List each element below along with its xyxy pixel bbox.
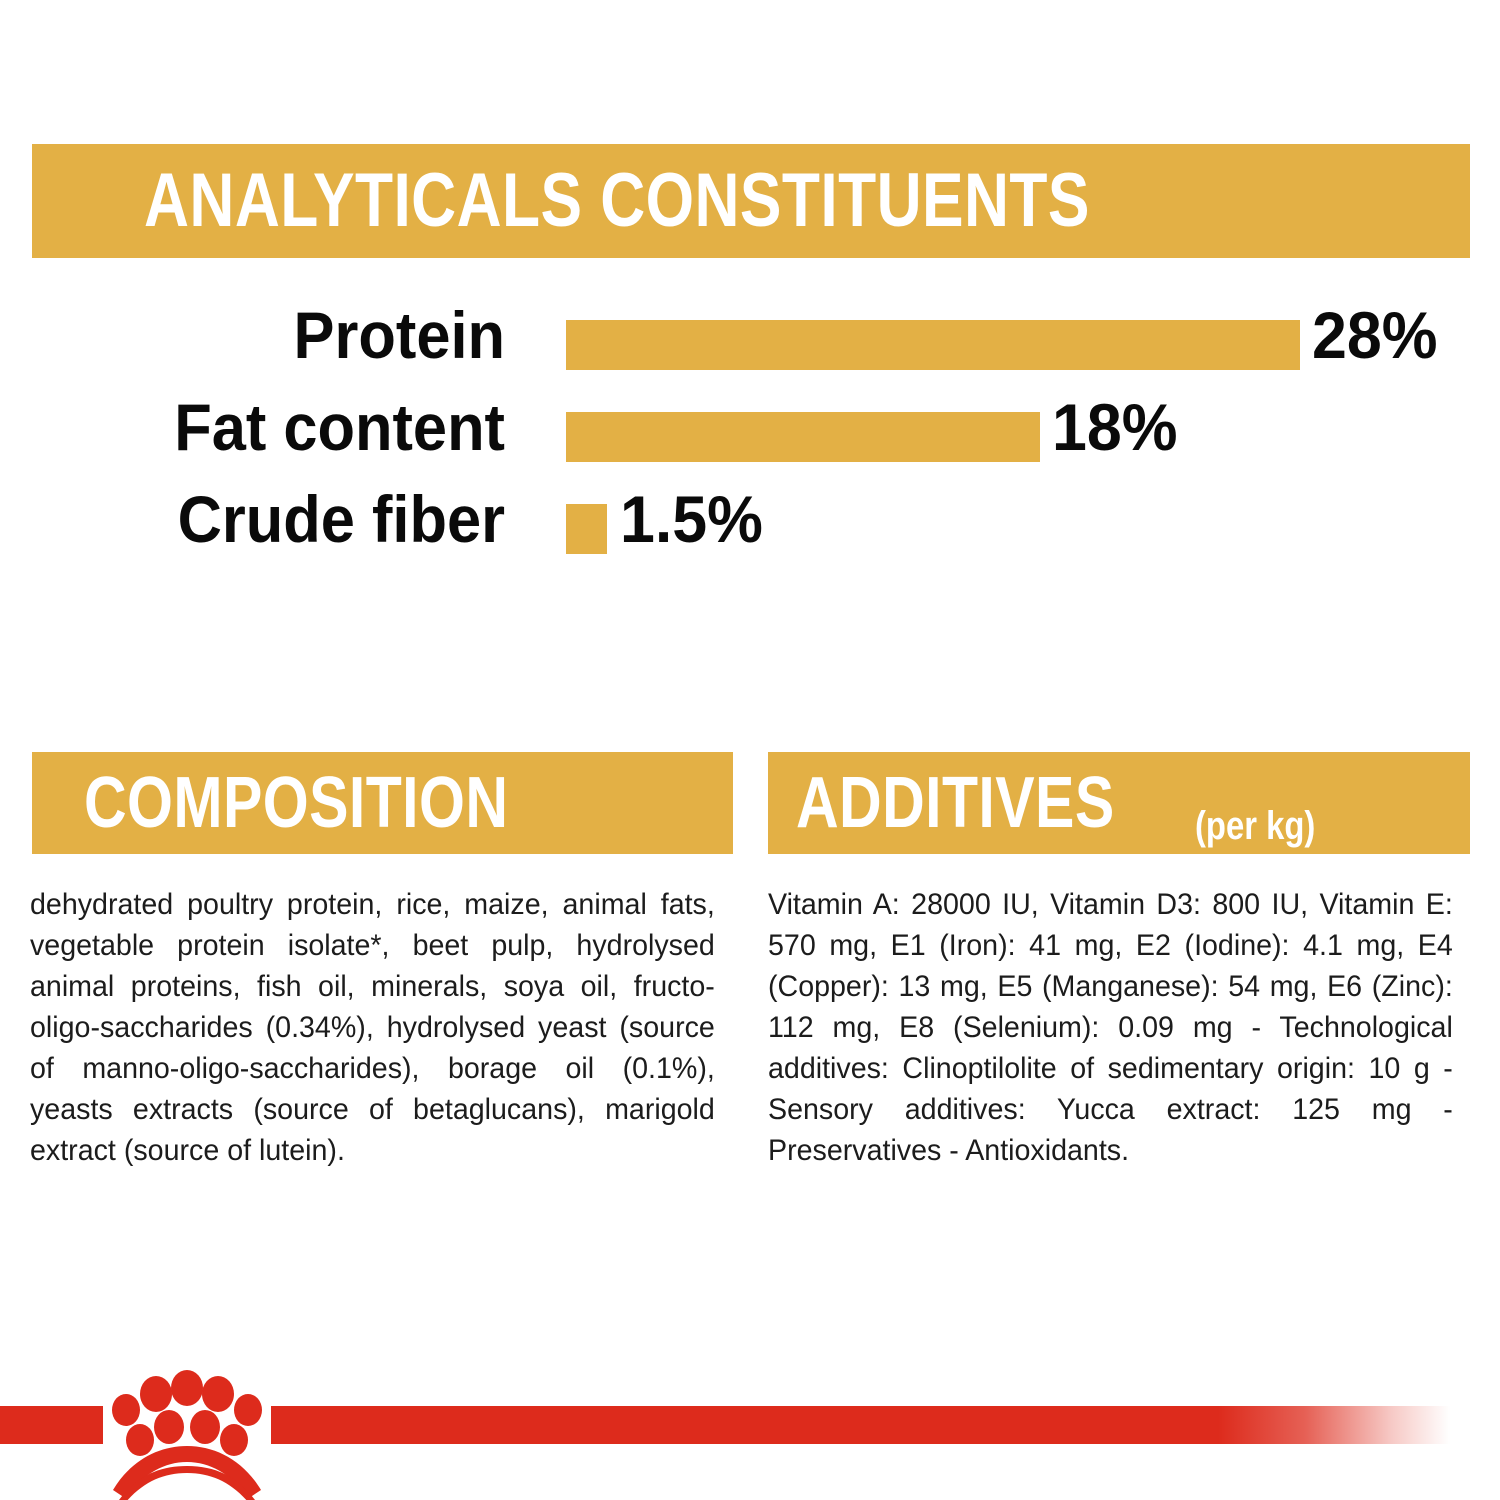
- additives-banner-title: ADDITIVES: [796, 767, 1115, 839]
- composition-banner-title: COMPOSITION: [84, 767, 508, 839]
- chart-label-crude-fiber: Crude fiber: [91, 486, 505, 552]
- analyticals-banner: ANALYTICALS CONSTITUENTS: [32, 144, 1470, 258]
- royal-canin-crown-icon: [103, 1370, 271, 1500]
- chart-label-protein: Protein: [91, 302, 505, 368]
- composition-body-text: dehydrated poultry protein, rice, maize,…: [30, 884, 715, 1171]
- additives-body-text: Vitamin A: 28000 IU, Vitamin D3: 800 IU,…: [768, 884, 1453, 1171]
- footer: [0, 1330, 1500, 1500]
- additives-banner-inner: ADDITIVES (per kg): [796, 767, 1341, 839]
- chart-bar-crude-fiber: [566, 504, 607, 554]
- additives-banner-subtitle: (per kg): [1195, 806, 1315, 846]
- analyticals-banner-title: ANALYTICALS CONSTITUENTS: [144, 163, 1090, 239]
- chart-row: Protein 28%: [0, 300, 1500, 392]
- additives-banner: ADDITIVES (per kg): [768, 752, 1470, 854]
- chart-value-crude-fiber: 1.5%: [620, 486, 763, 552]
- chart-row: Fat content 18%: [0, 392, 1500, 484]
- chart-value-fat-content: 18%: [1052, 394, 1178, 460]
- chart-bar-fat-content: [566, 412, 1040, 462]
- chart-value-protein: 28%: [1312, 302, 1438, 368]
- nutrition-panel: ANALYTICALS CONSTITUENTS Protein 28% Fat…: [0, 0, 1500, 1500]
- chart-bar-protein: [566, 320, 1300, 370]
- chart-label-fat-content: Fat content: [91, 394, 505, 460]
- composition-banner: COMPOSITION: [32, 752, 733, 854]
- chart-row: Crude fiber 1.5%: [0, 484, 1500, 576]
- analyticals-bar-chart: Protein 28% Fat content 18% Crude fiber …: [0, 300, 1500, 570]
